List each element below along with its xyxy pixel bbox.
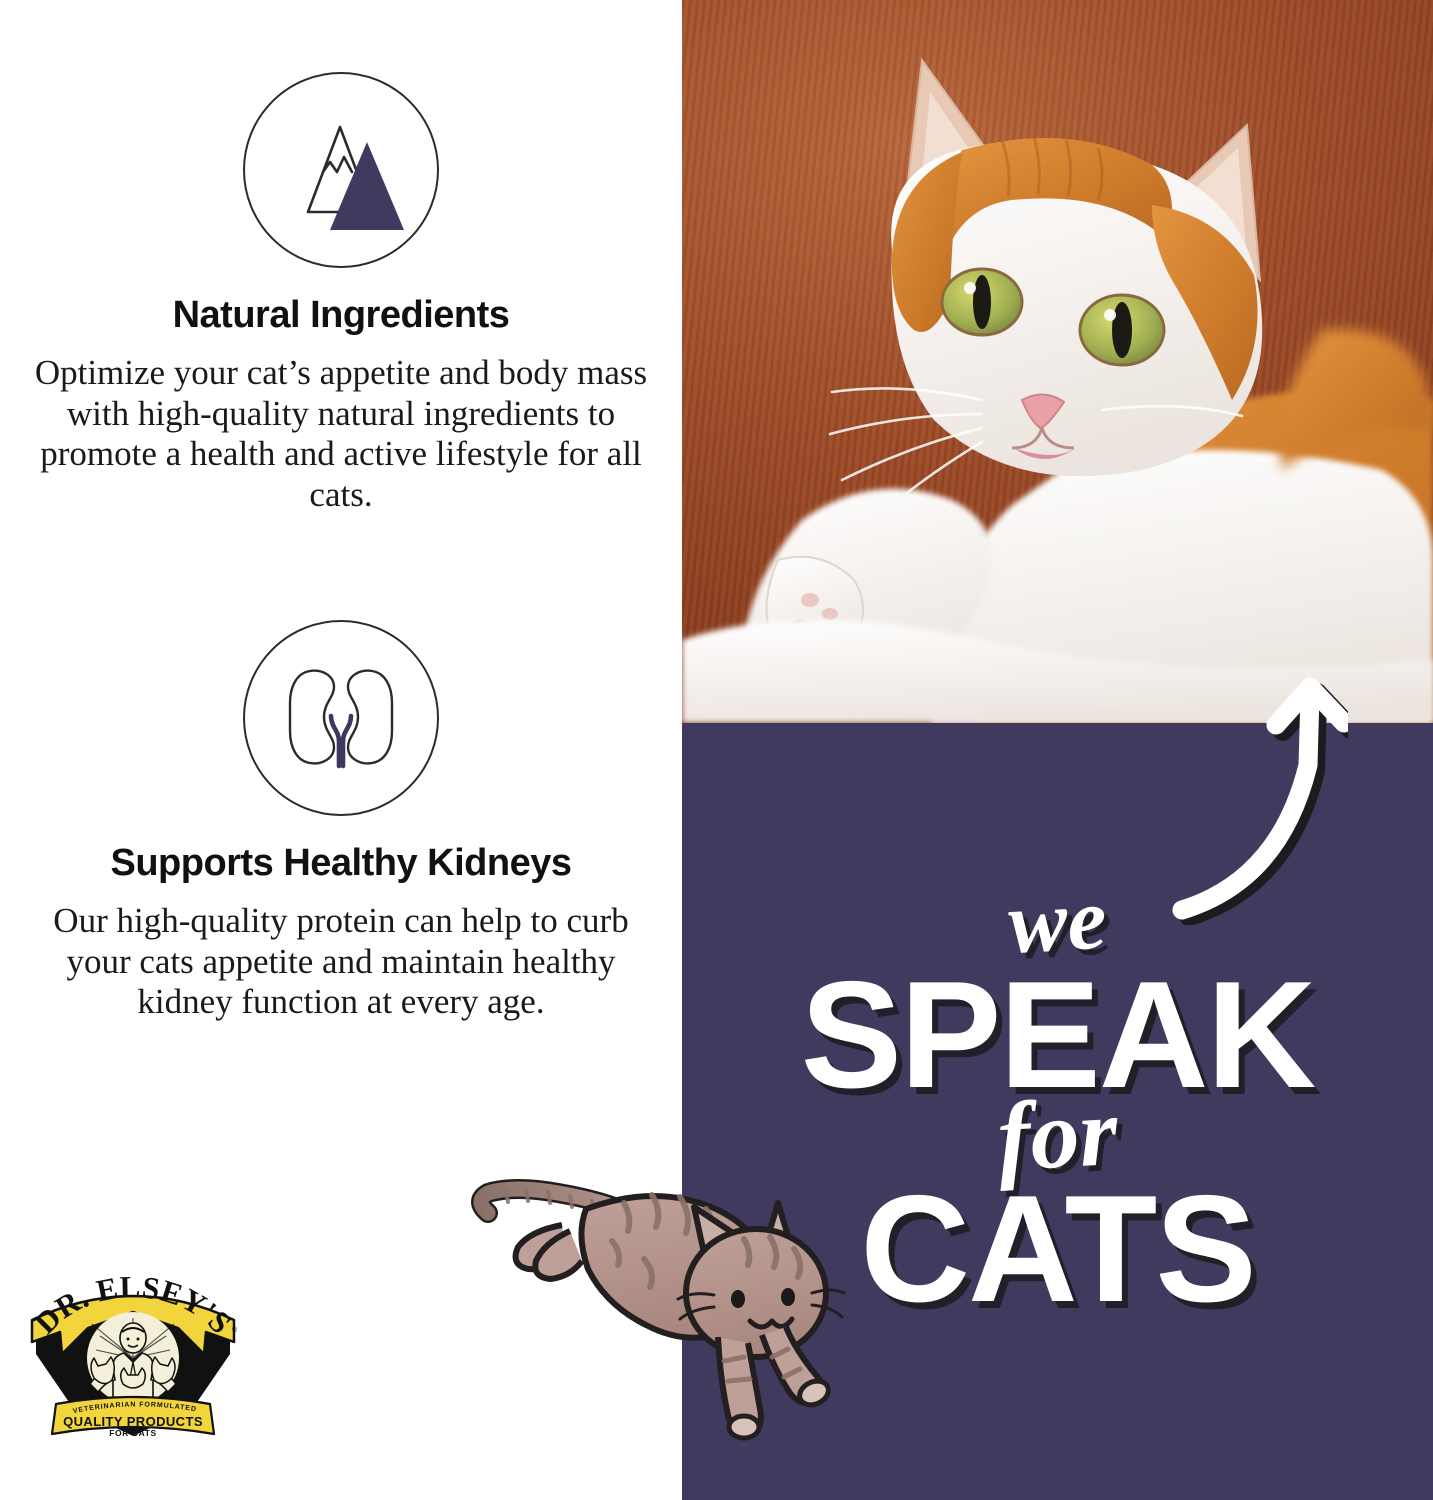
logo-registered-mark: ® — [232, 1326, 238, 1334]
feature-title: Natural Ingredients — [0, 294, 682, 337]
product-feature-page: Natural Ingredients Optimize your cat’s … — [0, 0, 1433, 1500]
mountains-icon — [243, 72, 439, 268]
feature-title: Supports Healthy Kidneys — [0, 842, 682, 885]
logo-tagline-line2: QUALITY PRODUCTS — [63, 1414, 203, 1429]
logo-tagline-line3: FOR CATS — [109, 1428, 157, 1438]
feature-description: Optimize your cat’s appetite and body ma… — [21, 353, 661, 515]
kidneys-icon — [243, 620, 439, 816]
feature-block-healthy-kidneys: Supports Healthy Kidneys Our high-qualit… — [0, 620, 682, 1023]
feature-block-natural-ingredients: Natural Ingredients Optimize your cat’s … — [0, 72, 682, 515]
dr-elseys-logo: VETERINARIAN FORMULATED QUALITY PRODUCTS… — [18, 1258, 248, 1448]
cat-photo — [682, 0, 1433, 723]
feature-description: Our high-quality protein can help to cur… — [21, 901, 661, 1023]
leaping-cat-illustration — [466, 1165, 866, 1465]
